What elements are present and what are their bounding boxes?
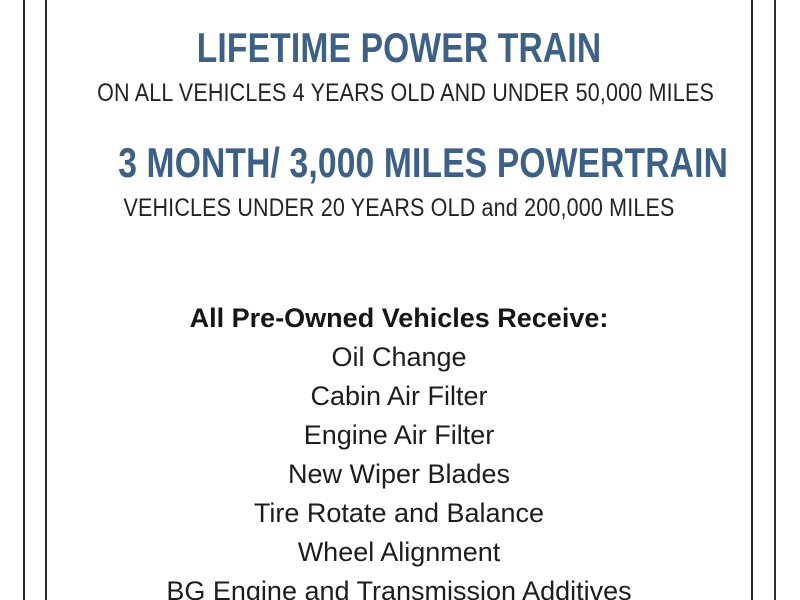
service-item: Cabin Air Filter (48, 377, 750, 416)
services-section: All Pre-Owned Vehicles Receive: Oil Chan… (48, 299, 750, 600)
frame-rule-right-inner (751, 0, 753, 600)
warranty-title-lifetime: LIFETIME POWER TRAIN (118, 27, 680, 69)
service-item: Wheel Alignment (48, 533, 750, 572)
warranty-poster: LIFETIME POWER TRAIN ON ALL VEHICLES 4 Y… (0, 0, 800, 600)
poster-content: LIFETIME POWER TRAIN ON ALL VEHICLES 4 Y… (48, 0, 750, 600)
warranty-block-three-month: 3 MONTH/ 3,000 MILES POWERTRAIN VEHICLES… (48, 142, 750, 221)
service-item: Oil Change (48, 338, 750, 377)
warranty-subtitle-lifetime: ON ALL VEHICLES 4 YEARS OLD AND UNDER 50… (97, 81, 701, 106)
frame-rule-right-outer (774, 0, 776, 600)
warranty-block-lifetime: LIFETIME POWER TRAIN ON ALL VEHICLES 4 Y… (48, 27, 750, 106)
service-item: BG Engine and Transmission Additives (48, 572, 750, 600)
service-item: New Wiper Blades (48, 455, 750, 494)
services-heading: All Pre-Owned Vehicles Receive: (48, 299, 750, 338)
service-item: Tire Rotate and Balance (48, 494, 750, 533)
warranty-subtitle-three-month: VEHICLES UNDER 20 YEARS OLD and 200,000 … (97, 196, 701, 221)
frame-rule-left-inner (45, 0, 47, 600)
frame-rule-left-outer (23, 0, 25, 600)
warranty-title-three-month: 3 MONTH/ 3,000 MILES POWERTRAIN (118, 142, 680, 184)
service-item: Engine Air Filter (48, 416, 750, 455)
